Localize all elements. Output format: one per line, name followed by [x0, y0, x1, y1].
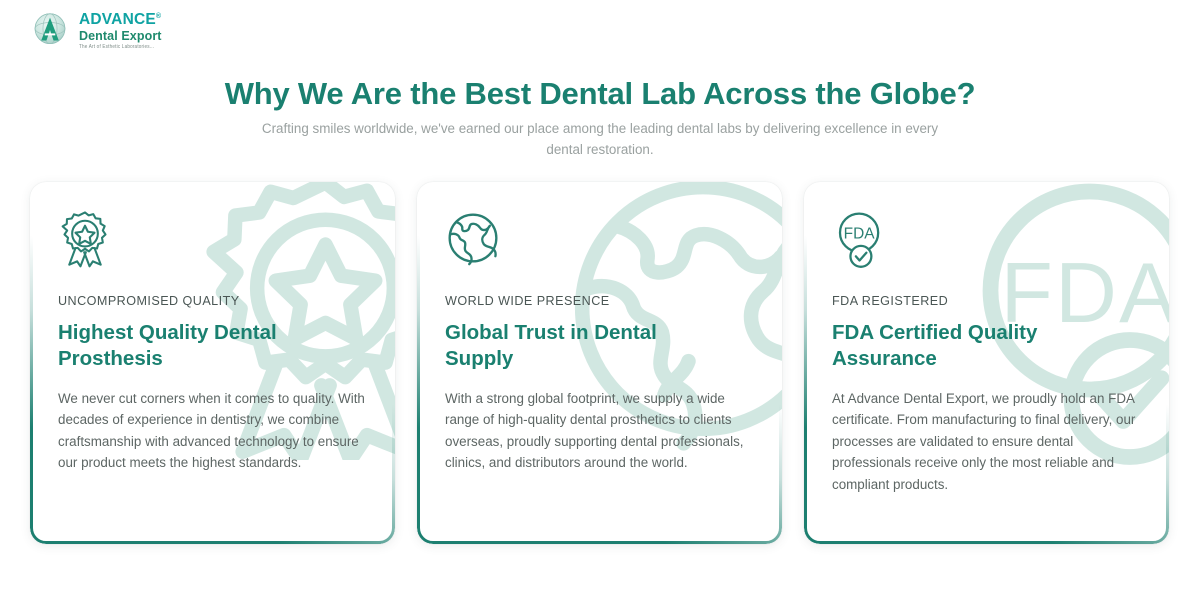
advance-dental-logo-icon [28, 8, 72, 52]
globe-icon [445, 210, 499, 268]
brand-name-secondary: Dental Export [79, 30, 162, 43]
card-content: FDA FDA REGISTERED FDA Certified Quality… [804, 182, 1169, 495]
brand-name-primary: ADVANCE® [79, 12, 162, 28]
card-description: With a strong global footprint, we suppl… [445, 388, 756, 474]
feature-cards-row: UNCOMPROMISED QUALITY Highest Quality De… [30, 182, 1170, 544]
brand-tagline: The Art of Esthetic Laboratories... [79, 45, 162, 50]
feature-card-fda[interactable]: FDA FDA FDA REGISTERED FDA Certified Qua… [804, 182, 1169, 544]
brand-wordmark: ADVANCE® Dental Export The Art of Esthet… [79, 10, 162, 50]
card-title: FDA Certified Quality Assurance [832, 320, 1082, 372]
registered-mark-icon: ® [156, 13, 161, 20]
card-description: At Advance Dental Export, we proudly hol… [832, 388, 1143, 495]
award-badge-star-icon [58, 210, 112, 268]
card-eyebrow: FDA REGISTERED [832, 294, 1143, 308]
site-logo[interactable]: ADVANCE® Dental Export The Art of Esthet… [28, 8, 162, 52]
card-eyebrow: WORLD WIDE PRESENCE [445, 294, 756, 308]
card-content: UNCOMPROMISED QUALITY Highest Quality De… [30, 182, 395, 474]
section-heading: Why We Are the Best Dental Lab Across th… [0, 76, 1200, 112]
fda-check-icon: FDA [832, 210, 886, 268]
card-description: We never cut corners when it comes to qu… [58, 388, 369, 474]
feature-card-quality[interactable]: UNCOMPROMISED QUALITY Highest Quality De… [30, 182, 395, 544]
card-title: Highest Quality Dental Prosthesis [58, 320, 308, 372]
card-content: WORLD WIDE PRESENCE Global Trust in Dent… [417, 182, 782, 474]
card-eyebrow: UNCOMPROMISED QUALITY [58, 294, 369, 308]
section-subheading: Crafting smiles worldwide, we've earned … [255, 118, 945, 160]
card-title: Global Trust in Dental Supply [445, 320, 695, 372]
svg-text:FDA: FDA [844, 226, 876, 243]
feature-card-global[interactable]: WORLD WIDE PRESENCE Global Trust in Dent… [417, 182, 782, 544]
